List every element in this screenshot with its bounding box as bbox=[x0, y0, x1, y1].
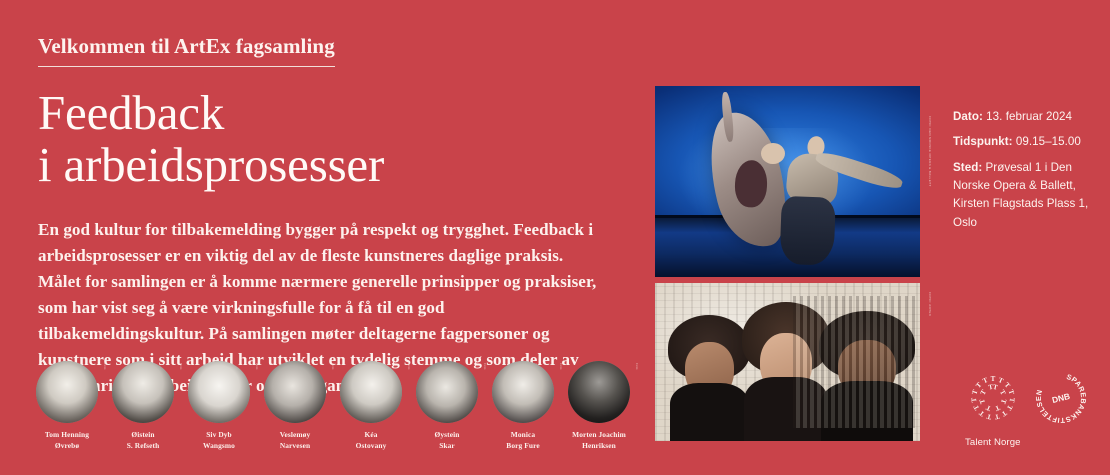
svg-text:T: T bbox=[978, 398, 987, 405]
detail-venue-line-2: Norske Opera & Ballett, bbox=[953, 179, 1076, 192]
stage-backdrop bbox=[655, 86, 920, 277]
photo-credit: Foto bbox=[407, 363, 411, 370]
detail-date-value: 13. februar 2024 bbox=[986, 110, 1072, 123]
avatar bbox=[188, 361, 250, 423]
list-item: Foto Veslemøy Narvesen bbox=[264, 361, 326, 451]
photo-credit-top: FOTO: DEN NORSKE OPERA & BALLETT bbox=[928, 116, 932, 187]
trio-person-1 bbox=[668, 315, 750, 441]
speaker-name: Veslemøy Narvesen bbox=[264, 430, 326, 451]
avatar bbox=[416, 361, 478, 423]
svg-text:T: T bbox=[1006, 389, 1015, 396]
sparebankstiftelsen-dnb-logo: SPAREBANKSTIFTELSEN DNB bbox=[1035, 372, 1087, 424]
speaker-name-line-1: Øistein bbox=[131, 430, 154, 439]
list-item: Foto Morten Joachim Henriksen bbox=[568, 361, 630, 451]
speaker-name: Kéa Ostovany bbox=[340, 430, 402, 451]
detail-date-label: Dato: bbox=[953, 110, 983, 123]
detail-date: Dato: 13. februar 2024 bbox=[953, 108, 1093, 126]
speaker-name: Øistein S. Refseth bbox=[112, 430, 174, 451]
dance-performance-photo bbox=[655, 86, 920, 277]
intro-block: Velkommen til ArtEx fagsamling Feedback … bbox=[38, 34, 638, 399]
detail-time-value: 09.15–15.00 bbox=[1016, 135, 1081, 148]
talent-norge-caption: Talent Norge bbox=[965, 437, 1021, 448]
photo-credit: Foto bbox=[331, 363, 335, 370]
sponsor-logos: T T T T T T T T T T T T T T T bbox=[965, 372, 1087, 448]
speaker-name-line-1: Siv Dyb bbox=[206, 430, 232, 439]
speaker-name: Morten Joachim Henriksen bbox=[568, 430, 630, 451]
avatar-photo bbox=[188, 361, 250, 423]
avatar-photo bbox=[568, 361, 630, 423]
speaker-name-line-2: Wangsmo bbox=[203, 441, 235, 450]
avatar-photo bbox=[112, 361, 174, 423]
list-item: Foto Øistein S. Refseth bbox=[112, 361, 174, 451]
person-body bbox=[670, 383, 749, 441]
headline-line-1: Feedback bbox=[38, 85, 224, 140]
photo-credit-bottom: FOTO: ARTEX bbox=[928, 292, 932, 316]
talent-norge-logo: T T T T T T T T T T T T T T T bbox=[965, 372, 1021, 448]
speaker-name-line-1: Kéa bbox=[364, 430, 377, 439]
speaker-name-line-2: Henriksen bbox=[582, 441, 616, 450]
avatar bbox=[112, 361, 174, 423]
trio-backdrop bbox=[655, 283, 920, 441]
dancer-torso bbox=[734, 159, 767, 207]
avatar-photo bbox=[36, 361, 98, 423]
detail-time-label: Tidspunkt: bbox=[953, 135, 1013, 148]
detail-venue-line-3: Kirsten Flagstads Plass 1, bbox=[953, 197, 1088, 210]
speaker-name: Tom Henning Øvrebø bbox=[36, 430, 98, 451]
svg-text:T: T bbox=[979, 388, 988, 396]
photo-credit: Foto bbox=[559, 363, 563, 370]
list-item: Foto Tom Henning Øvrebø bbox=[36, 361, 98, 451]
speaker-name-line-1: Tom Henning bbox=[45, 430, 89, 439]
speaker-name-line-2: Borg Fure bbox=[506, 441, 539, 450]
speaker-name-line-2: Narvesen bbox=[280, 441, 310, 450]
svg-text:T: T bbox=[970, 397, 978, 403]
svg-text:T: T bbox=[993, 412, 1000, 421]
photo-credit: Foto bbox=[179, 363, 183, 370]
avatar-photo bbox=[416, 361, 478, 423]
speaker-name: Øystein Skar bbox=[416, 430, 478, 451]
photo-credit: Foto bbox=[255, 363, 259, 370]
artist-trio-photo bbox=[655, 283, 920, 441]
photo-credit: Foto bbox=[635, 363, 639, 370]
page-title: Feedback i arbeidsprosesser bbox=[38, 87, 638, 191]
avatar-photo bbox=[264, 361, 326, 423]
list-item: Foto Monica Borg Fure bbox=[492, 361, 554, 451]
headline-line-2: i arbeidsprosesser bbox=[38, 139, 638, 191]
photo-credit: Foto bbox=[483, 363, 487, 370]
kicker-text: Velkommen til ArtEx fagsamling bbox=[38, 34, 335, 67]
avatar-photo bbox=[492, 361, 554, 423]
speaker-name-line-2: Øvrebø bbox=[55, 441, 79, 450]
dancer-pants bbox=[780, 195, 836, 265]
list-item: Foto Siv Dyb Wangsmo bbox=[188, 361, 250, 451]
avatar bbox=[568, 361, 630, 423]
speaker-name: Siv Dyb Wangsmo bbox=[188, 430, 250, 451]
event-details: Dato: 13. februar 2024 Tidspunkt: 09.15–… bbox=[953, 108, 1093, 232]
detail-venue-label: Sted: bbox=[953, 161, 982, 174]
detail-venue: Sted: Prøvesal 1 i Den Norske Opera & Ba… bbox=[953, 159, 1093, 232]
avatar bbox=[340, 361, 402, 423]
talent-norge-ring-icon: T T T T T T T T T T T T T T T bbox=[967, 372, 1019, 424]
sparebank-center-text: DNB bbox=[1051, 391, 1071, 405]
speaker-name-line-1: Monica bbox=[511, 430, 535, 439]
speaker-name-line-1: Veslemøy bbox=[280, 430, 311, 439]
detail-venue-line-4: Oslo bbox=[953, 216, 977, 229]
speaker-name-line-2: S. Refseth bbox=[127, 441, 160, 450]
svg-text:T: T bbox=[999, 398, 1008, 405]
svg-text:T: T bbox=[993, 403, 1001, 412]
poster-canvas: Velkommen til ArtEx fagsamling Feedback … bbox=[0, 0, 1110, 475]
avatar-photo bbox=[340, 361, 402, 423]
svg-text:T: T bbox=[984, 403, 992, 412]
avatar bbox=[264, 361, 326, 423]
speaker-name-line-1: Morten Joachim bbox=[572, 430, 626, 439]
detail-time: Tidspunkt: 09.15–15.00 bbox=[953, 133, 1093, 151]
speaker-list: Foto Tom Henning Øvrebø Foto Øistein S. … bbox=[36, 361, 630, 451]
photo-credit: Foto bbox=[103, 363, 107, 370]
list-item: Foto Kéa Ostovany bbox=[340, 361, 402, 451]
dancer-leg bbox=[721, 91, 735, 141]
speaker-name: Monica Borg Fure bbox=[492, 430, 554, 451]
glitch-effect-overlay bbox=[793, 296, 915, 429]
detail-venue-line-1: Prøvesal 1 i Den bbox=[986, 161, 1073, 174]
speaker-name-line-2: Skar bbox=[439, 441, 455, 450]
svg-text:T: T bbox=[998, 388, 1007, 396]
list-item: Foto Øystein Skar bbox=[416, 361, 478, 451]
avatar bbox=[492, 361, 554, 423]
avatar bbox=[36, 361, 98, 423]
speaker-name-line-2: Ostovany bbox=[356, 441, 387, 450]
speaker-name-line-1: Øystein bbox=[435, 430, 460, 439]
sparebankstiftelsen-ring-icon: SPAREBANKSTIFTELSEN DNB bbox=[1035, 372, 1087, 424]
